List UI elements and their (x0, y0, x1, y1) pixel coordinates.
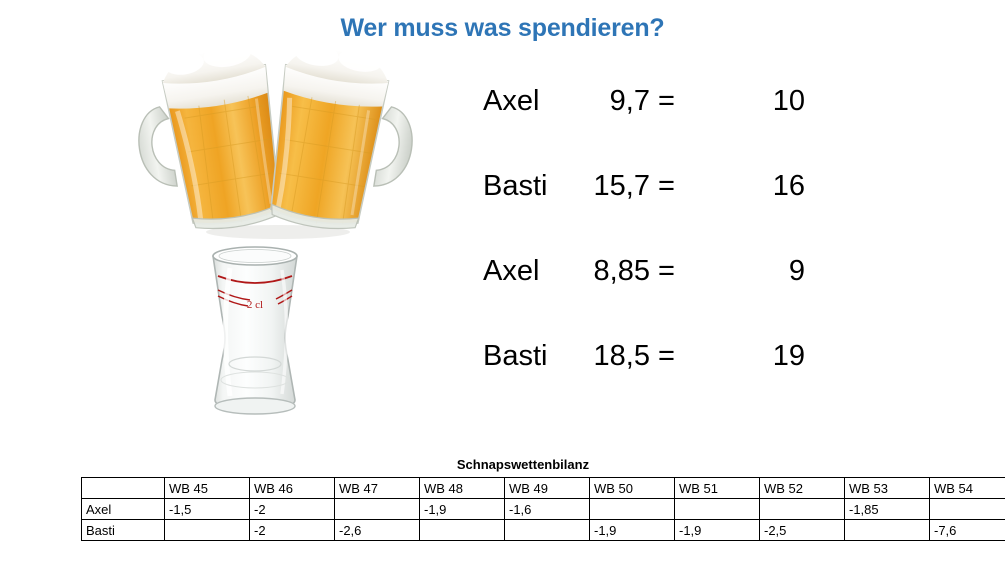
beer-mugs-icon (132, 42, 418, 240)
shot-glass-icon: 2 cl (196, 238, 314, 424)
tally-row-value: 8,85 (540, 252, 650, 290)
table-cell: -1,9 (675, 520, 760, 541)
tally-row: Axel 9,7 = 10 (470, 82, 830, 167)
tally-row-equals: = (658, 337, 675, 375)
tally-row: Basti 15,7 = 16 (470, 167, 830, 252)
tally-row-result: 16 (710, 167, 805, 205)
table-cell: -1,9 (590, 520, 675, 541)
table-cell (505, 520, 590, 541)
tally-row: Basti 18,5 = 19 (470, 337, 830, 422)
table-corner-header (82, 478, 165, 499)
tally-row-name: Axel (483, 82, 539, 120)
table-cell: -2,6 (335, 520, 420, 541)
table-cell: -1,9 (420, 499, 505, 520)
table-cell (590, 499, 675, 520)
table-cell: -2 (250, 499, 335, 520)
table-column-header: WB 46 (250, 478, 335, 499)
table-column-header: WB 53 (845, 478, 930, 499)
table-cell: -1,6 (505, 499, 590, 520)
table-cell (845, 520, 930, 541)
tally-row-result: 9 (710, 252, 805, 290)
table-column-header: WB 51 (675, 478, 760, 499)
tally-row-name: Basti (483, 167, 547, 205)
table-column-header: WB 50 (590, 478, 675, 499)
table-row-label: Axel (82, 499, 165, 520)
table-column-header: WB 52 (760, 478, 845, 499)
table-cell (760, 499, 845, 520)
table-column-header: WB 49 (505, 478, 590, 499)
table-column-header: WB 48 (420, 478, 505, 499)
tally-row-equals: = (658, 82, 675, 120)
table-cell: -2,5 (760, 520, 845, 541)
table-cell (930, 499, 1005, 520)
balance-table: WB 45 WB 46 WB 47 WB 48 WB 49 WB 50 WB 5… (81, 477, 1005, 541)
table-row-label: Basti (82, 520, 165, 541)
table-column-header: WB 54 (930, 478, 1005, 499)
table-row: Basti -2 -2,6 -1,9 -1,9 -2,5 -7,6 (82, 520, 1005, 541)
tally-row-equals: = (658, 252, 675, 290)
shot-glass-marking-label: 2 cl (247, 299, 263, 311)
tally-row: Axel 8,85 = 9 (470, 252, 830, 337)
tally-row-value: 9,7 (540, 82, 650, 120)
tally-row-name: Basti (483, 337, 547, 375)
tally-row-name: Axel (483, 252, 539, 290)
tally-row-result: 10 (710, 82, 805, 120)
beer-mugs-image (132, 42, 418, 240)
table-cell: -1,85 (845, 499, 930, 520)
table-column-header: WB 47 (335, 478, 420, 499)
table-row: Axel -1,5 -2 -1,9 -1,6 -1,85 (82, 499, 1005, 520)
tally-row-value: 15,7 (540, 167, 650, 205)
table-cell: -7,6 (930, 520, 1005, 541)
table-cell (335, 499, 420, 520)
table-column-header: WB 45 (165, 478, 250, 499)
table-cell (165, 520, 250, 541)
page-title: Wer muss was spendieren? (0, 14, 1005, 43)
tally-row-equals: = (658, 167, 675, 205)
table-cell (675, 499, 760, 520)
balance-table-caption: Schnapswettenbilanz (81, 457, 965, 472)
table-cell (420, 520, 505, 541)
tally-row-value: 18,5 (540, 337, 650, 375)
table-cell: -1,5 (165, 499, 250, 520)
table-header-row: WB 45 WB 46 WB 47 WB 48 WB 49 WB 50 WB 5… (82, 478, 1005, 499)
shot-glass-image: 2 cl (196, 238, 314, 424)
tally-row-result: 19 (710, 337, 805, 375)
tally-list: Axel 9,7 = 10 Basti 15,7 = 16 Axel 8,85 … (470, 82, 830, 422)
table-cell: -2 (250, 520, 335, 541)
